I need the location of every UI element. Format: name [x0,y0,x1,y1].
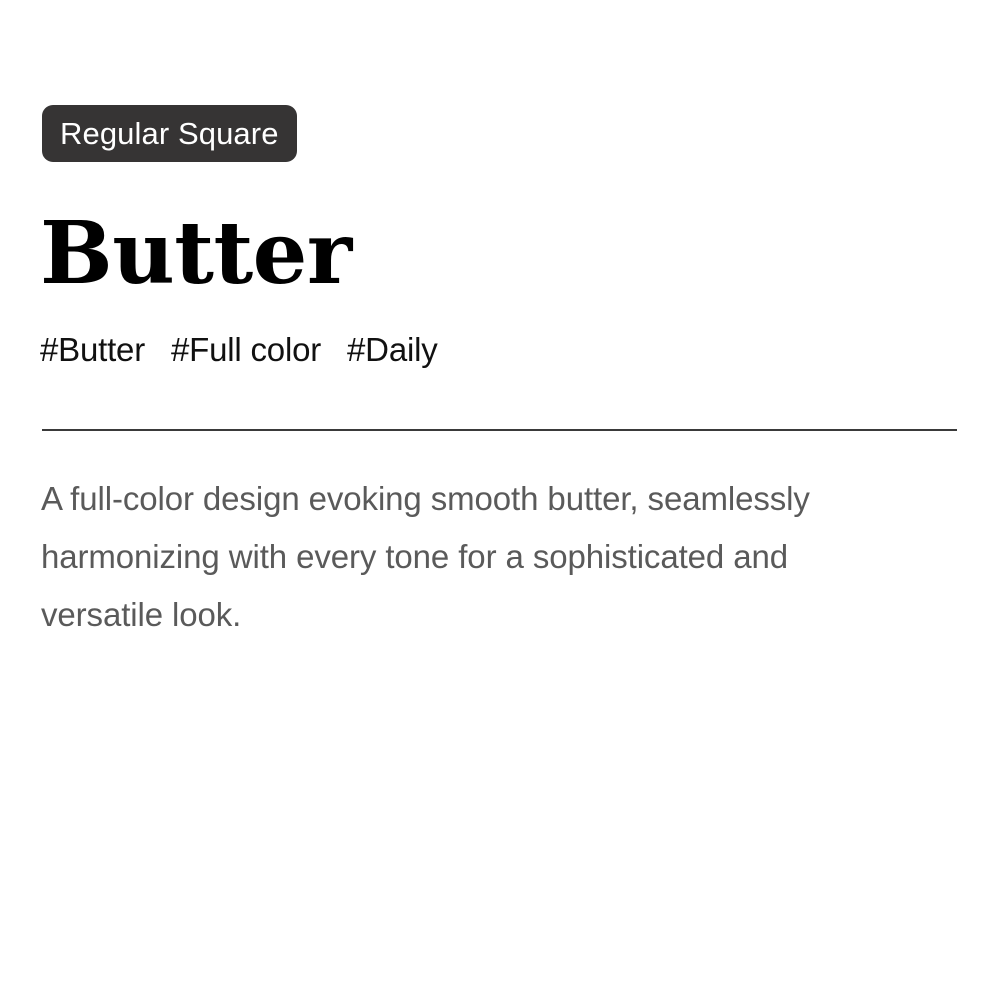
section-divider [42,429,957,431]
category-badge[interactable]: Regular Square [42,105,297,162]
tag-full-color[interactable]: #Full color [171,329,321,371]
design-detail-card: Regular Square Butter #Butter #Full colo… [0,0,1000,1000]
description-text: A full-color design evoking smooth butte… [41,470,901,644]
page-title: Butter [40,206,352,302]
tag-list: #Butter #Full color #Daily [40,329,438,371]
tag-daily[interactable]: #Daily [347,329,438,371]
tag-butter[interactable]: #Butter [40,329,145,371]
category-badge-label: Regular Square [60,118,279,149]
